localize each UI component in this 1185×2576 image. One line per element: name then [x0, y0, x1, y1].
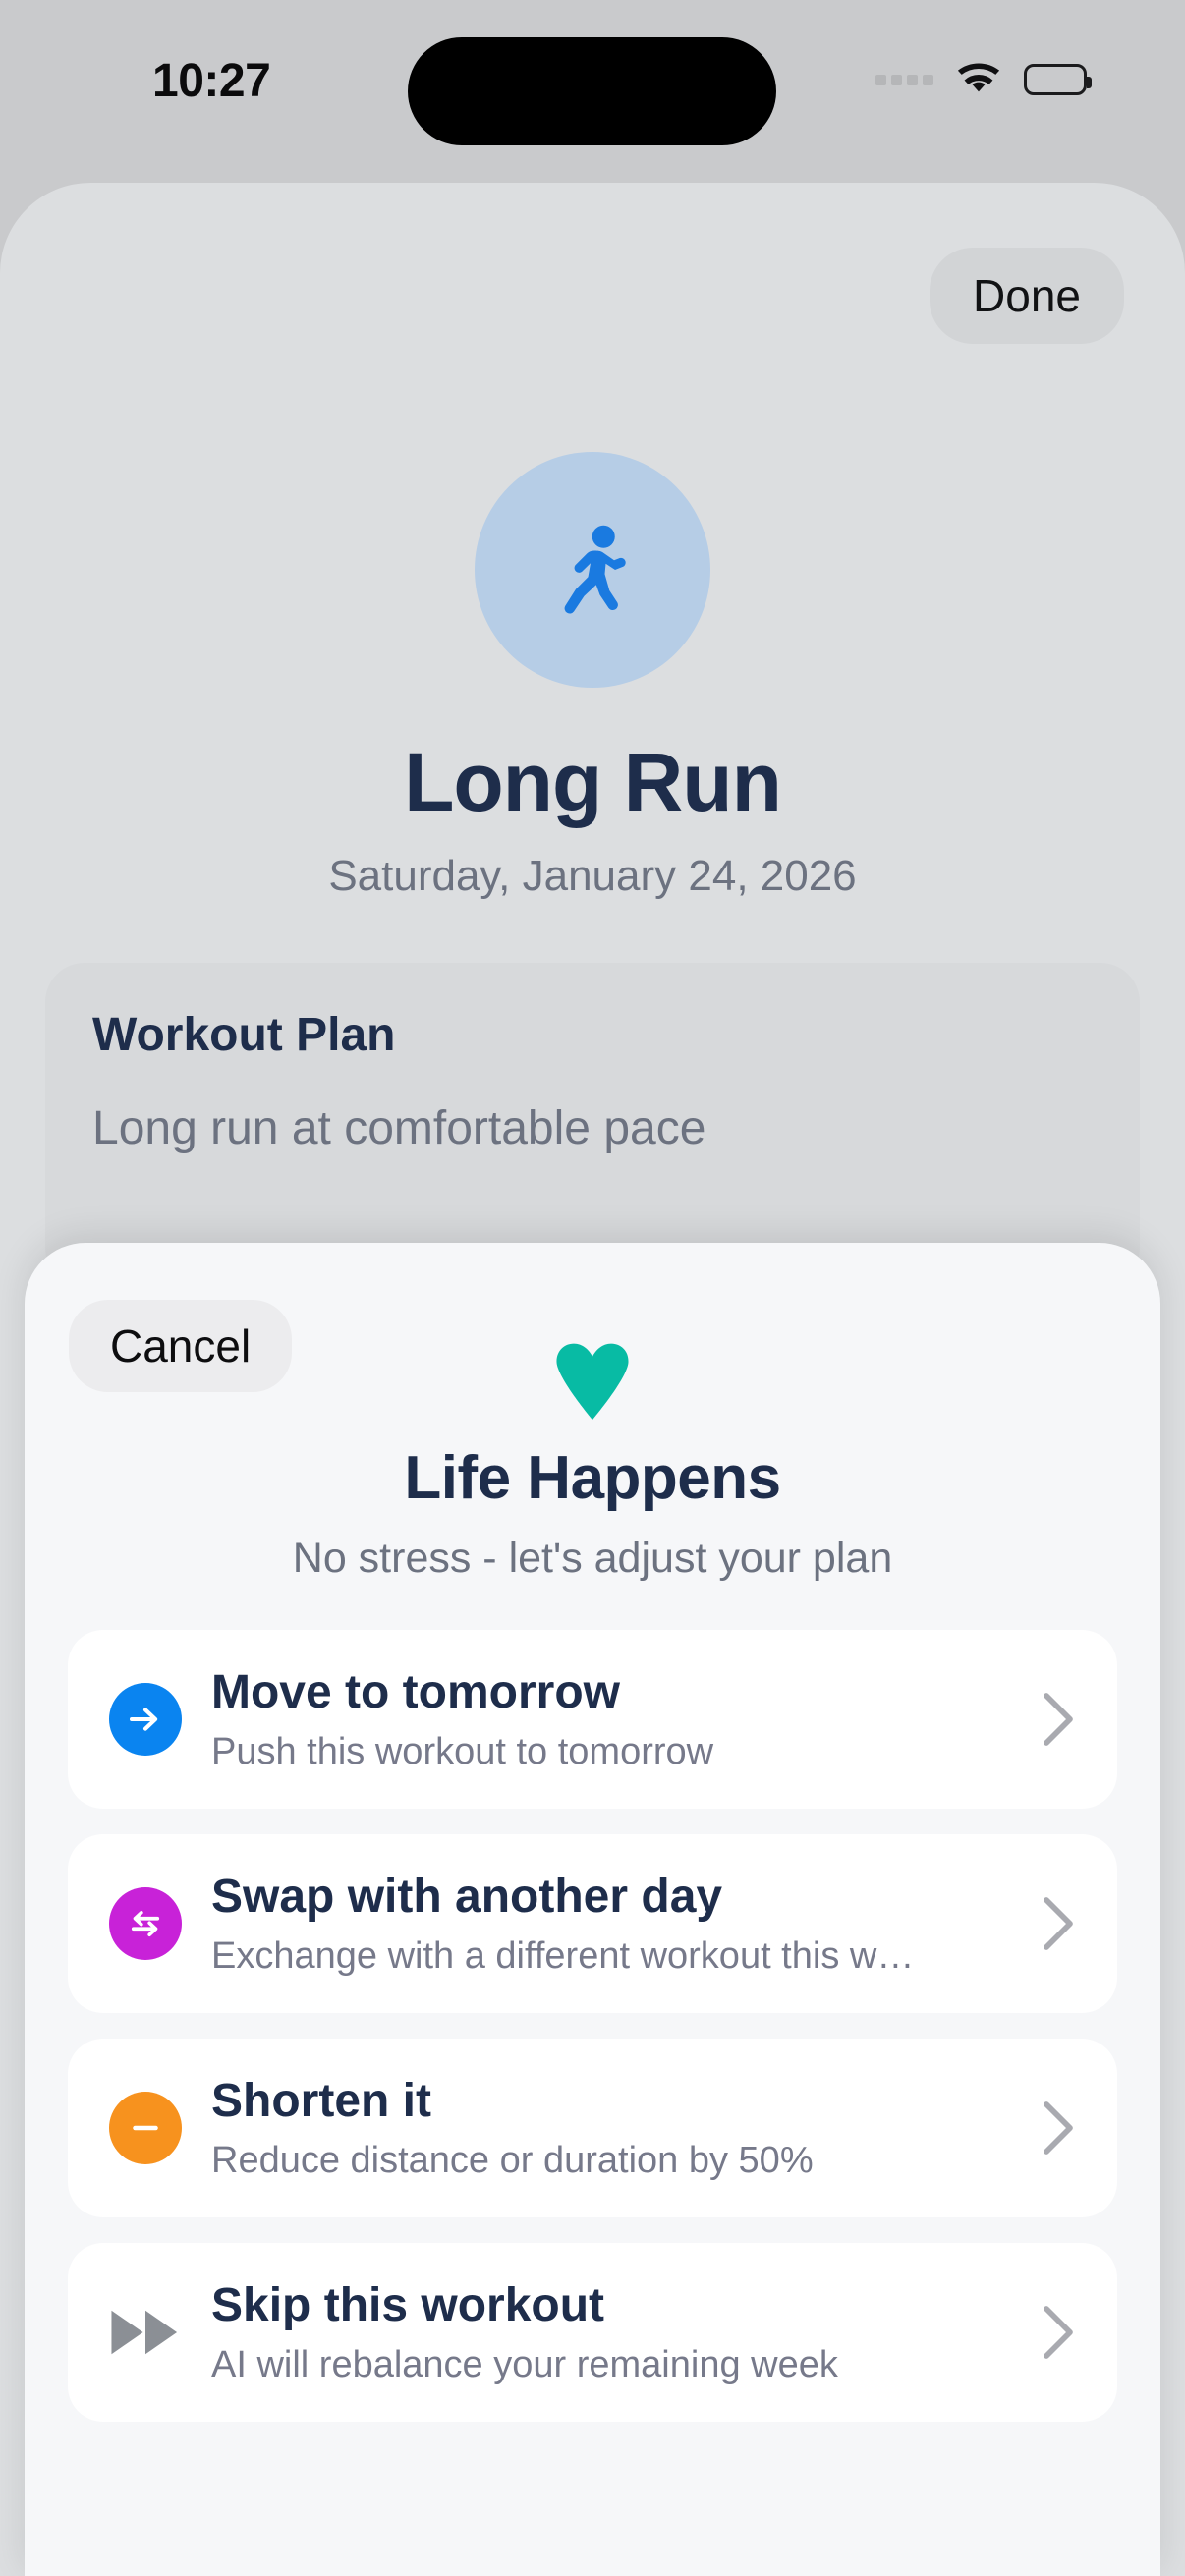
option-text: Move to tomorrow Push this workout to to…	[211, 1665, 1023, 1773]
chevron-right-icon	[1039, 2099, 1078, 2157]
cellular-dots-icon	[875, 75, 933, 85]
page-title: Long Run	[0, 735, 1185, 830]
sheet-subtitle: No stress - let's adjust your plan	[25, 1535, 1160, 1583]
status-indicators	[875, 61, 1087, 98]
adjust-options-list: Move to tomorrow Push this workout to to…	[25, 1630, 1160, 2422]
workout-hero: Long Run Saturday, January 24, 2026	[0, 452, 1185, 901]
running-person-glyph	[534, 511, 651, 629]
workout-date: Saturday, January 24, 2026	[0, 852, 1185, 901]
option-shorten-it[interactable]: Shorten it Reduce distance or duration b…	[68, 2039, 1117, 2217]
option-text: Shorten it Reduce distance or duration b…	[211, 2074, 1023, 2182]
fast-forward-icon	[109, 2296, 182, 2369]
dynamic-island	[408, 37, 776, 145]
sheet-header: Life Happens No stress - let's adjust yo…	[25, 1243, 1160, 1583]
cancel-button[interactable]: Cancel	[69, 1300, 292, 1392]
chevron-right-icon	[1039, 1690, 1078, 1749]
status-time: 10:27	[152, 54, 270, 108]
sheet-title: Life Happens	[25, 1443, 1160, 1513]
battery-full-icon	[1024, 64, 1087, 95]
swap-arrows-circle-icon	[109, 1887, 182, 1960]
option-title: Swap with another day	[211, 1870, 1023, 1924]
status-bar: 10:27	[0, 0, 1185, 183]
option-skip-this-workout[interactable]: Skip this workout AI will rebalance your…	[68, 2243, 1117, 2422]
minus-circle-icon	[109, 2092, 182, 2164]
option-text: Swap with another day Exchange with a di…	[211, 1870, 1023, 1978]
option-title: Move to tomorrow	[211, 1665, 1023, 1719]
option-subtitle: Reduce distance or duration by 50%	[211, 2140, 1023, 2182]
heart-icon	[547, 1341, 638, 1422]
option-move-to-tomorrow[interactable]: Move to tomorrow Push this workout to to…	[68, 1630, 1117, 1809]
workout-plan-description: Long run at comfortable pace	[92, 1101, 1093, 1155]
option-title: Skip this workout	[211, 2278, 1023, 2332]
option-subtitle: AI will rebalance your remaining week	[211, 2344, 1023, 2386]
phone-screen: 10:27 Done Long Run Saturday, J	[0, 0, 1185, 2576]
running-person-icon	[475, 452, 710, 688]
wifi-icon	[955, 61, 1002, 98]
option-title: Shorten it	[211, 2074, 1023, 2128]
chevron-right-icon	[1039, 2303, 1078, 2362]
life-happens-sheet: Cancel Life Happens No stress - let's ad…	[25, 1243, 1160, 2576]
option-swap-with-another-day[interactable]: Swap with another day Exchange with a di…	[68, 1834, 1117, 2013]
arrow-right-circle-icon	[109, 1683, 182, 1756]
chevron-right-icon	[1039, 1894, 1078, 1953]
workout-plan-card: Workout Plan Long run at comfortable pac…	[45, 963, 1140, 1287]
option-subtitle: Push this workout to tomorrow	[211, 1731, 1023, 1773]
option-text: Skip this workout AI will rebalance your…	[211, 2278, 1023, 2386]
option-subtitle: Exchange with a different workout this w…	[211, 1935, 1023, 1978]
done-button[interactable]: Done	[930, 248, 1124, 344]
workout-plan-heading: Workout Plan	[92, 1008, 1093, 1062]
